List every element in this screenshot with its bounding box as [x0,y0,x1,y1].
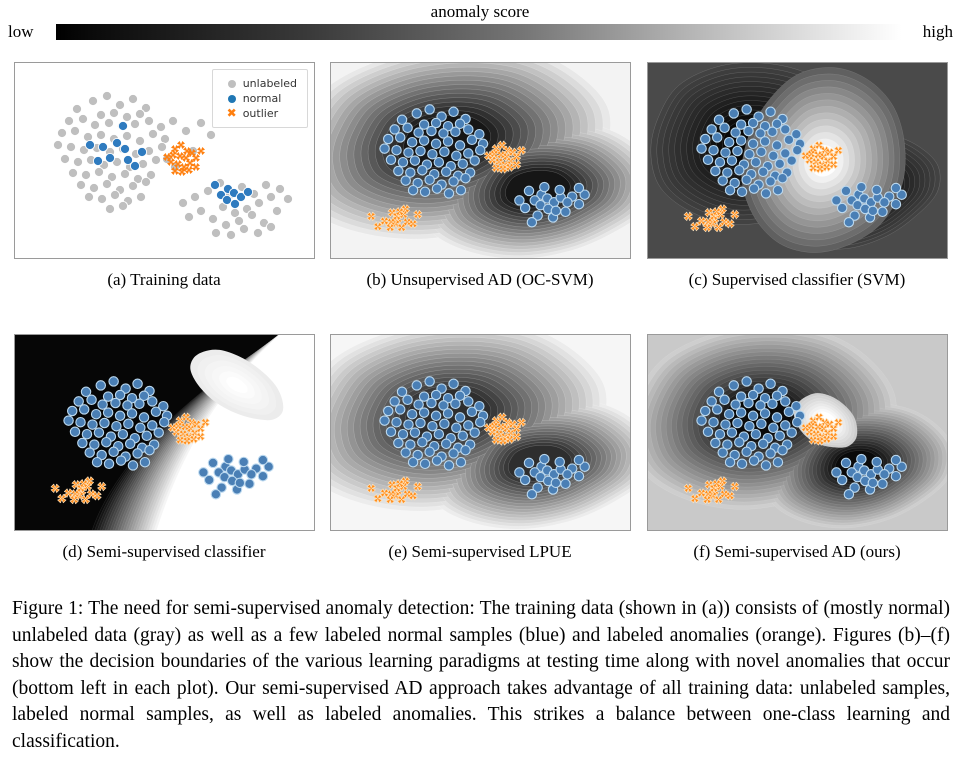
panel-e-plot [331,335,630,530]
legend-item-normal: normal [221,91,297,106]
panel-e-semi-supervised-lpue [330,334,631,531]
panel-f-semi-supervised-ad [647,334,948,531]
panel-b-plot [331,63,630,258]
outlier-marker-icon: ✖ [221,106,243,121]
legend-item-unlabeled: unlabeled [221,76,297,91]
unlabeled-marker-icon [221,76,243,91]
panel-a-training-data: unlabeled normal ✖ outlier [14,62,315,259]
caption-panel-c: (c) Supervised classifier (SVM) [647,270,947,290]
colorbar-title: anomaly score [0,2,960,22]
colorbar-gradient [56,24,902,40]
caption-panel-e: (e) Semi-supervised LPUE [330,542,630,562]
caption-panel-a: (a) Training data [14,270,314,290]
panel-d-semi-supervised-classifier [14,334,315,531]
colorbar: anomaly score low high [0,0,960,48]
caption-panel-b: (b) Unsupervised AD (OC-SVM) [330,270,630,290]
legend-label-normal: normal [243,91,282,106]
caption-panel-f: (f) Semi-supervised AD (ours) [647,542,947,562]
legend: unlabeled normal ✖ outlier [212,69,308,128]
panel-c-supervised-classifier [647,62,948,259]
colorbar-low-label: low [8,22,34,42]
panel-f-plot [648,335,947,530]
colorbar-high-label: high [923,22,953,42]
legend-label-unlabeled: unlabeled [243,76,297,91]
caption-panel-d: (d) Semi-supervised classifier [14,542,314,562]
panel-b-unsupervised-ad [330,62,631,259]
panel-d-plot [15,335,314,530]
legend-label-outlier: outlier [243,106,278,121]
panel-c-plot [648,63,947,258]
legend-item-outlier: ✖ outlier [221,106,297,121]
normal-marker-icon [221,91,243,106]
figure-caption: Figure 1: The need for semi-supervised a… [12,596,950,755]
